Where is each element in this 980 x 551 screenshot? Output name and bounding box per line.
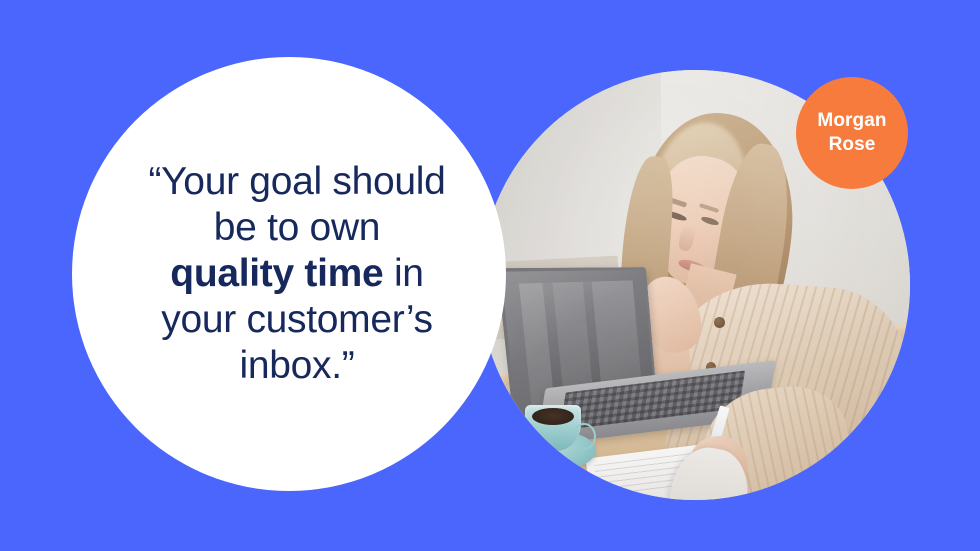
quote-text-before: “Your goal should be to own xyxy=(148,160,445,249)
photo-sweater-button-top xyxy=(714,317,724,327)
attribution-badge: Morgan Rose xyxy=(796,77,908,189)
quote-graphic-canvas: “Your goal should be to own quality time… xyxy=(0,0,980,551)
quote-circle: “Your goal should be to own quality time… xyxy=(72,57,506,491)
attribution-name: Morgan Rose xyxy=(817,109,886,157)
quote-text: “Your goal should be to own quality time… xyxy=(147,159,447,389)
quote-text-emphasis: quality time xyxy=(170,252,383,295)
photo-coffee-cup xyxy=(525,405,581,450)
